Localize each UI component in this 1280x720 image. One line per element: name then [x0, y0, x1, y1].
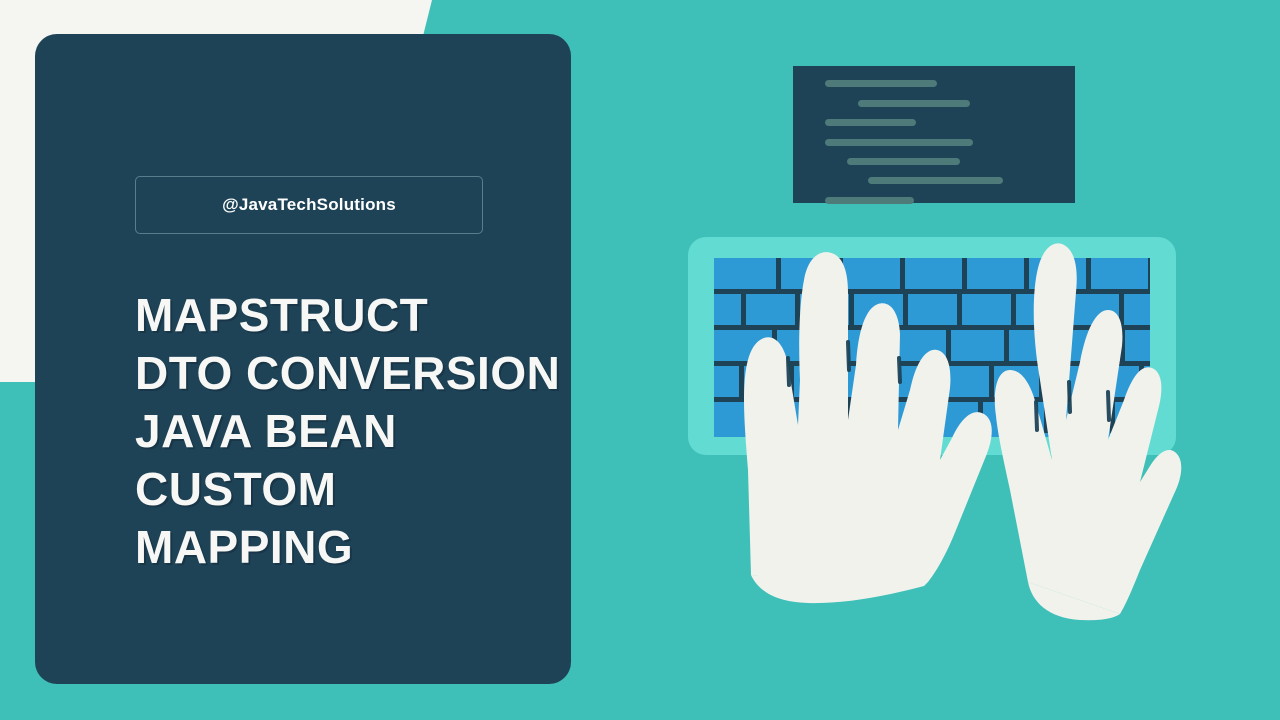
title-line-2: DTO CONVERSION	[135, 344, 575, 402]
page-title: MAPSTRUCT DTO CONVERSION JAVA BEAN CUSTO…	[135, 286, 575, 576]
title-line-3: JAVA BEAN	[135, 402, 575, 460]
code-line-4	[825, 139, 973, 146]
typing-hands-illustration	[688, 230, 1188, 630]
code-line-6	[868, 177, 1003, 184]
code-line-2	[858, 100, 970, 107]
title-line-1: MAPSTRUCT	[135, 286, 575, 344]
code-block-illustration	[793, 66, 1075, 203]
channel-handle-box: @JavaTechSolutions	[135, 176, 483, 234]
right-hand-icon	[995, 243, 1182, 620]
title-line-4: CUSTOM	[135, 460, 575, 518]
code-line-3	[825, 119, 916, 126]
content-card: @JavaTechSolutions MAPSTRUCT DTO CONVERS…	[35, 34, 571, 684]
thumbnail-canvas: @JavaTechSolutions MAPSTRUCT DTO CONVERS…	[0, 0, 1280, 720]
code-line-5	[847, 158, 960, 165]
left-hand-icon	[744, 252, 992, 603]
channel-handle-text: @JavaTechSolutions	[222, 195, 396, 215]
title-line-5: MAPPING	[135, 518, 575, 576]
code-line-1	[825, 80, 937, 87]
code-line-7	[825, 197, 914, 204]
